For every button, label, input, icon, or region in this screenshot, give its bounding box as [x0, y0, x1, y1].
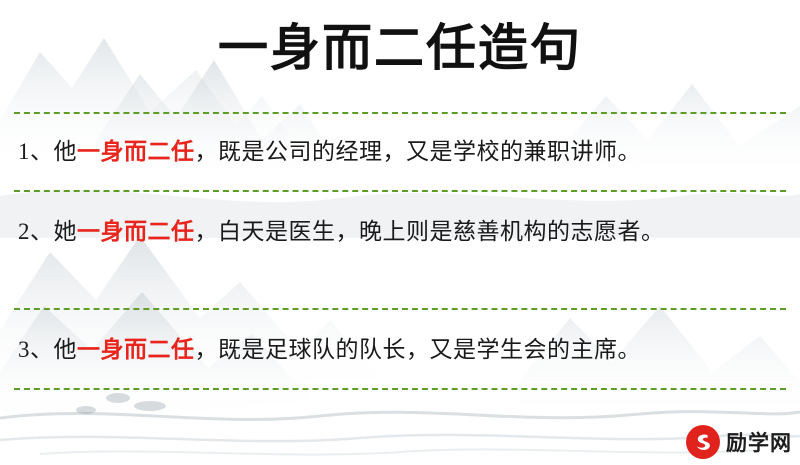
sentence-item: 3、他一身而二任，既是足球队的队长，又是学生会的主席。	[18, 330, 784, 370]
sentence-item: 1、他一身而二任，既是公司的经理，又是学校的兼职讲师。	[18, 132, 784, 172]
divider-top	[14, 112, 786, 114]
sentence-index: 1、	[18, 139, 54, 164]
sentence-keyword: 一身而二任	[77, 219, 195, 244]
site-watermark[interactable]: 励学网	[686, 425, 792, 459]
sentence-text-after: ，白天是医生，晚上则是慈善机构的志愿者。	[195, 219, 665, 244]
sentence-text-before: 他	[54, 337, 78, 362]
sentence-keyword: 一身而二任	[77, 337, 195, 362]
document-page: 一身而二任造句 1、他一身而二任，既是公司的经理，又是学校的兼职讲师。 2、她一…	[0, 0, 800, 465]
sentence-text-after: ，既是公司的经理，又是学校的兼职讲师。	[195, 139, 642, 164]
sentence-index: 2、	[18, 219, 54, 244]
brand-name: 励学网	[726, 427, 792, 457]
page-title: 一身而二任造句	[218, 18, 582, 78]
page-title-wrapper: 一身而二任造句	[0, 18, 800, 78]
sentence-index: 3、	[18, 337, 54, 362]
sentence-text-after: ，既是足球队的队长，又是学生会的主席。	[195, 337, 642, 362]
sentence-text-before: 她	[54, 219, 78, 244]
sentence-item: 2、她一身而二任，白天是医生，晚上则是慈善机构的志愿者。	[18, 212, 784, 252]
brand-mark-icon	[686, 425, 720, 459]
divider-1	[14, 190, 786, 192]
divider-3	[14, 388, 786, 390]
sentence-text-before: 他	[54, 139, 78, 164]
divider-2	[14, 308, 786, 310]
sentence-keyword: 一身而二任	[77, 139, 195, 164]
